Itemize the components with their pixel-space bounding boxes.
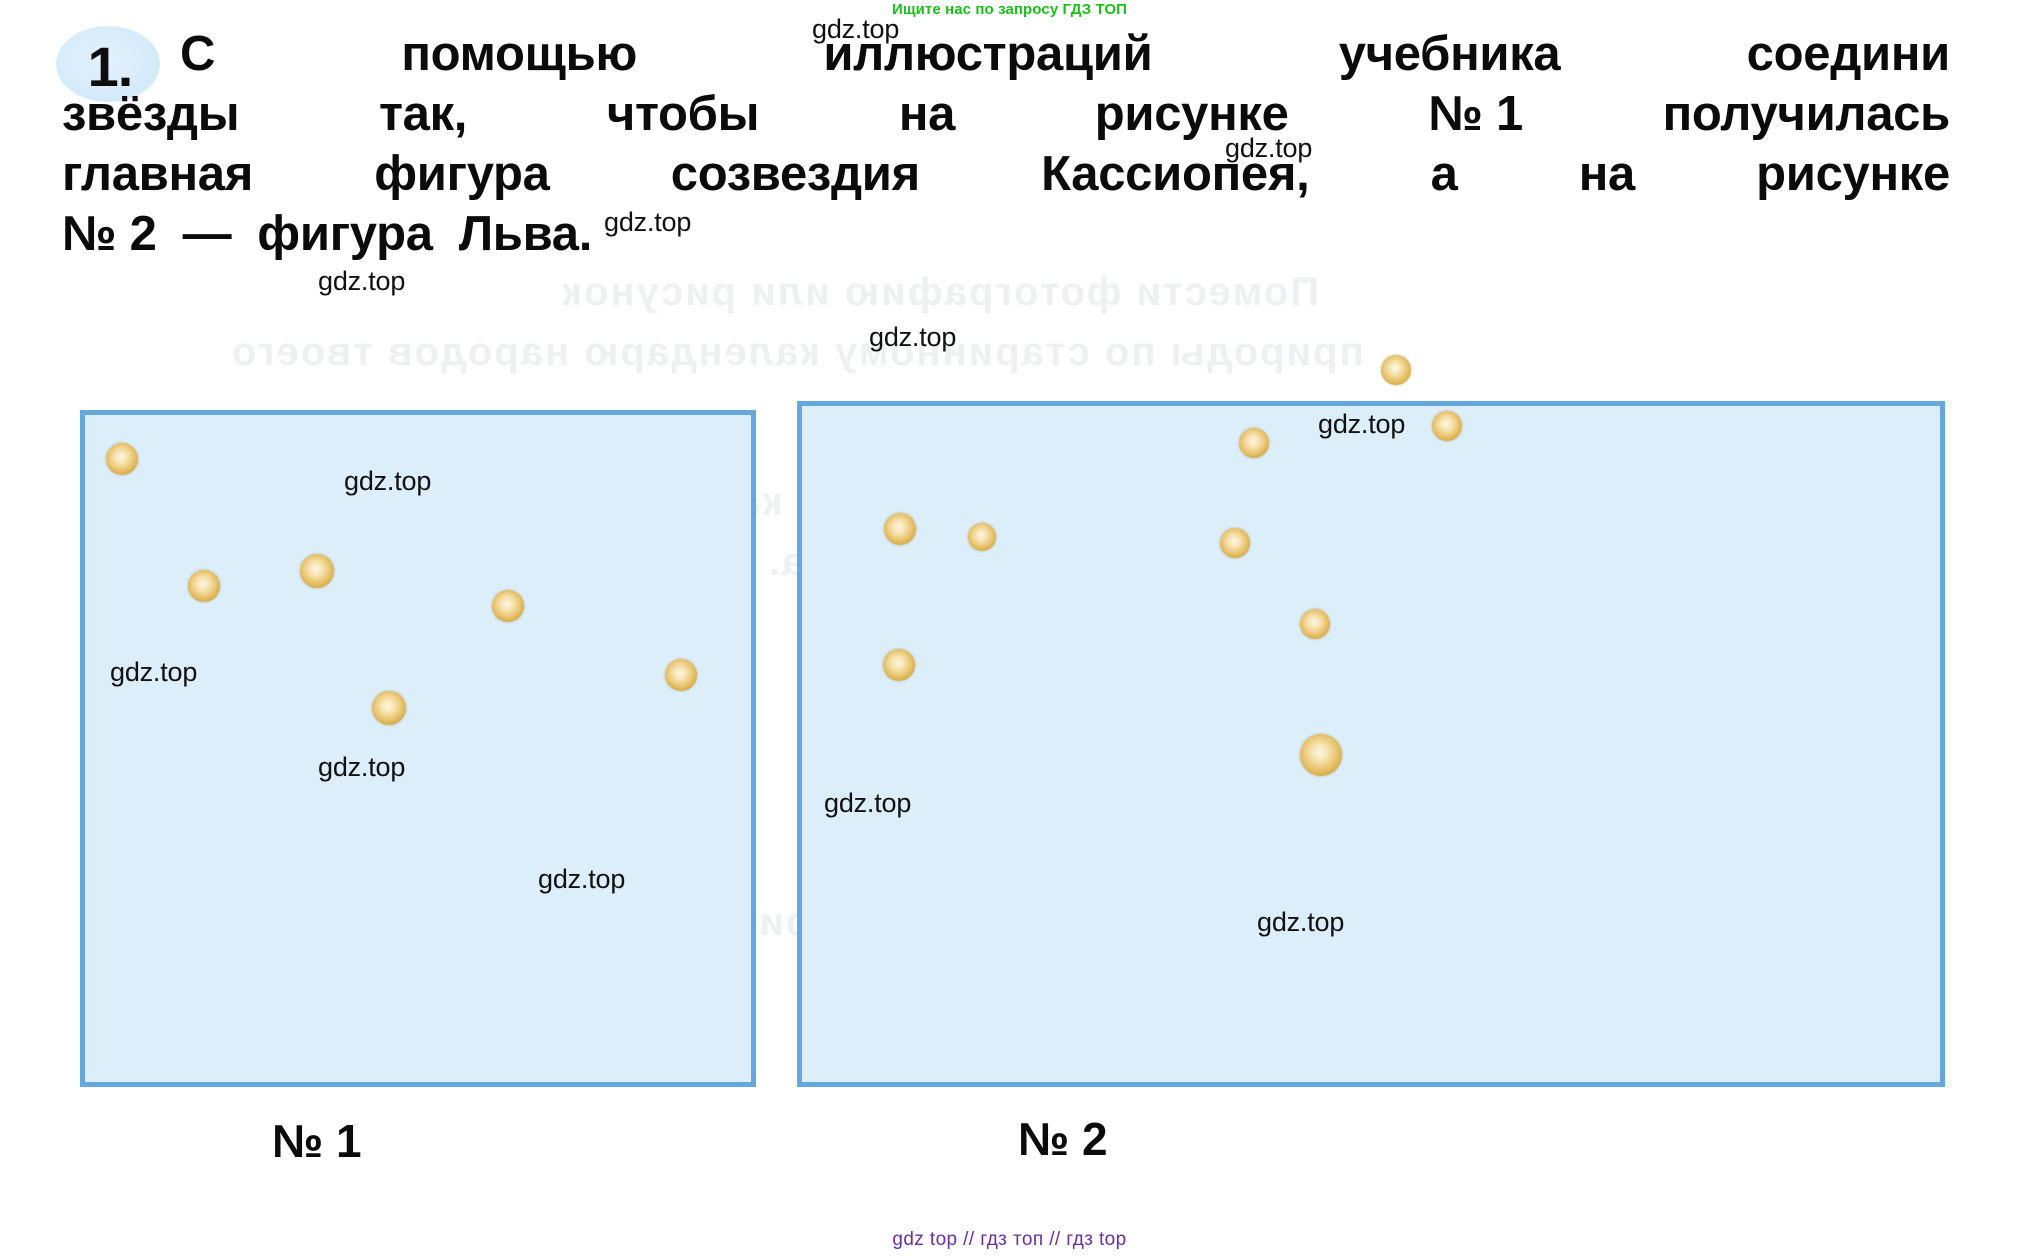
statement-word: получилась [1663,84,1950,144]
gdz-watermark: gdz.top [824,788,911,819]
star-dot[interactable] [1300,734,1342,776]
gdz-watermark: gdz.top [1225,133,1312,164]
figure-caption-1: № 1 [272,1114,362,1168]
showthrough-text: природы по старинному календарю народов … [230,330,1364,375]
promo-watermark: Ищите нас по запросу ГДЗ ТОП [0,1,2019,18]
bottom-watermark: gdz top // гдз топ // гдз top [0,1229,2019,1251]
gdz-watermark: gdz.top [344,466,431,497]
statement-word: на [1579,144,1635,204]
star-dot[interactable] [492,590,524,622]
figure-box-2[interactable] [797,401,1945,1087]
gdz-watermark: gdz.top [1257,907,1344,938]
statement-word: № 1 [1428,84,1523,144]
star-dot[interactable] [1239,428,1269,458]
star-dot[interactable] [1300,609,1330,639]
gdz-watermark: gdz.top [604,207,691,238]
statement-word: Льва. [459,204,592,264]
gdz-watermark: gdz.top [110,657,197,688]
star-dot[interactable] [884,513,916,545]
statement-word: чтобы [607,84,759,144]
star-dot[interactable] [1432,411,1462,441]
star-dot[interactable] [665,659,697,691]
statement-line-1: Спомощьюиллюстрацийучебникасоедини [62,24,1950,84]
statement-word: С [180,24,215,84]
statement-word: а [1431,144,1458,204]
statement-word: главная [62,144,253,204]
star-dot[interactable] [106,443,138,475]
gdz-watermark: gdz.top [318,266,405,297]
statement-line-3: главнаяфигурасозвездияКассиопея,анарисун… [62,144,1950,204]
gdz-watermark: gdz.top [318,752,405,783]
statement-word: звёзды [62,84,239,144]
star-dot[interactable] [1381,355,1411,385]
statement-word: так, [379,84,467,144]
gdz-watermark: gdz.top [538,864,625,895]
statement-line-4: № 2—фигураЛьва. [62,204,1950,264]
worksheet-page: Помести фотографию или рисунокприроды по… [0,0,2019,1259]
statement-word: на [899,84,955,144]
statement-word: — [183,204,232,264]
statement-line-2: звёздытак,чтобынарисунке№ 1получилась [62,84,1950,144]
figure-caption-2: № 2 [1018,1112,1108,1166]
statement-word: № 2 [62,204,157,264]
star-dot[interactable] [1220,528,1250,558]
statement-word: соедини [1747,24,1950,84]
star-dot[interactable] [968,523,996,551]
gdz-watermark: gdz.top [812,14,899,45]
statement-word: учебника [1339,24,1561,84]
star-dot[interactable] [883,649,915,681]
task-statement: Спомощьюиллюстрацийучебникасоедини звёзд… [62,24,1950,264]
figure-box-1[interactable] [80,410,756,1087]
statement-word: помощью [401,24,637,84]
star-dot[interactable] [372,691,406,725]
statement-word: фигура [257,204,432,264]
star-dot[interactable] [300,554,334,588]
gdz-watermark: gdz.top [869,322,956,353]
gdz-watermark: gdz.top [1318,409,1405,440]
statement-word: рисунке [1756,144,1950,204]
statement-word: фигура [374,144,549,204]
showthrough-text: Помести фотографию или рисунок [560,270,1319,315]
statement-word: созвездия [671,144,920,204]
star-dot[interactable] [188,570,220,602]
